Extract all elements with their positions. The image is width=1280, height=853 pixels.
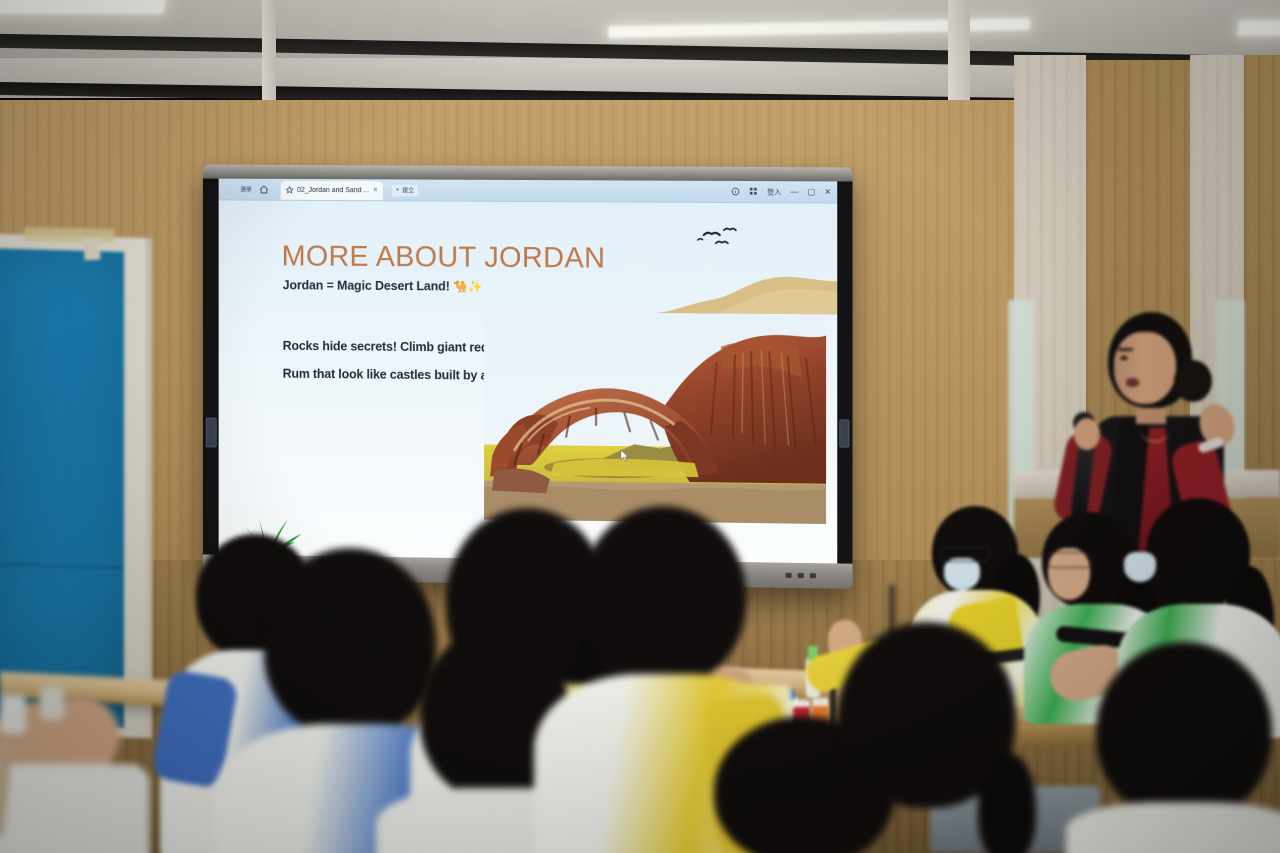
new-tab-button[interactable]: + 建立 bbox=[391, 183, 419, 197]
browser-tab[interactable]: 02_Jordan and Sand ... × bbox=[279, 179, 383, 199]
classroom-scene: 選單 02_Jordan and Sand ... × bbox=[0, 0, 1280, 853]
ceiling-light-right bbox=[1237, 20, 1280, 36]
wadi-rum-rock-arch-image bbox=[484, 315, 826, 524]
birds-icon bbox=[696, 221, 757, 252]
teacher-necklace bbox=[1140, 416, 1170, 442]
ceiling-light-left bbox=[0, 0, 166, 14]
wall-mullion-right bbox=[948, 0, 970, 108]
slide-subtitle: Jordan = Magic Desert Land! 🐪✨ bbox=[283, 278, 483, 293]
student-front-8 bbox=[1086, 642, 1280, 853]
display-control-button-3[interactable] bbox=[810, 573, 816, 578]
info-icon[interactable] bbox=[731, 187, 740, 196]
teacher-hair-bun bbox=[1174, 360, 1212, 402]
new-tab-label: 建立 bbox=[402, 185, 414, 194]
display-side-button-right[interactable] bbox=[839, 419, 849, 447]
display-bezel-right bbox=[837, 181, 852, 563]
teacher-eye bbox=[1120, 356, 1128, 360]
wall-mullion-left bbox=[262, 0, 276, 105]
teacher-mouth bbox=[1126, 378, 1139, 387]
home-icon[interactable] bbox=[259, 184, 269, 194]
hamburger-menu-icon[interactable] bbox=[225, 185, 234, 193]
student-front-7 bbox=[828, 622, 1038, 853]
apps-grid-icon[interactable] bbox=[749, 187, 758, 196]
slide-title: MORE ABOUT JORDAN bbox=[282, 240, 606, 275]
star-icon bbox=[285, 186, 293, 194]
window-close-button[interactable]: ✕ bbox=[824, 188, 831, 196]
plus-icon: + bbox=[396, 187, 399, 193]
display-bezel-left bbox=[203, 179, 219, 555]
display-control-button-1[interactable] bbox=[786, 573, 792, 578]
slide-subtitle-text: Jordan = Magic Desert Land! bbox=[283, 278, 450, 293]
browser-toolbar: 選單 02_Jordan and Sand ... × bbox=[219, 179, 838, 204]
teacher-hand-right bbox=[1074, 418, 1100, 450]
menu-label[interactable]: 選單 bbox=[240, 185, 251, 194]
mouse-pointer-icon bbox=[620, 449, 629, 462]
toolbar-spacer bbox=[426, 190, 724, 191]
teacher-face-shadow bbox=[1114, 332, 1140, 404]
browser-tab-title: 02_Jordan and Sand ... bbox=[297, 186, 369, 193]
sand-dune-graphic bbox=[655, 267, 837, 315]
sign-in-button[interactable]: 登入 bbox=[767, 187, 781, 197]
teacher-eyebrow bbox=[1118, 348, 1133, 351]
display-control-button-2[interactable] bbox=[798, 573, 804, 578]
slide-subtitle-emojis: 🐪✨ bbox=[453, 279, 483, 293]
browser-toolbar-right: 登入 — ▢ ✕ bbox=[731, 186, 831, 197]
display-side-button-left[interactable] bbox=[206, 418, 217, 448]
tab-close-icon[interactable]: × bbox=[373, 186, 378, 194]
bulletin-board-top-trim bbox=[24, 227, 114, 243]
window-minimize-button[interactable]: — bbox=[790, 188, 798, 196]
cup-on-desk-left bbox=[0, 694, 26, 734]
bulletin-board-tape bbox=[83, 238, 100, 261]
bulletin-board bbox=[0, 248, 124, 728]
object-on-desk-left bbox=[40, 686, 64, 720]
window-maximize-button[interactable]: ▢ bbox=[808, 188, 816, 196]
